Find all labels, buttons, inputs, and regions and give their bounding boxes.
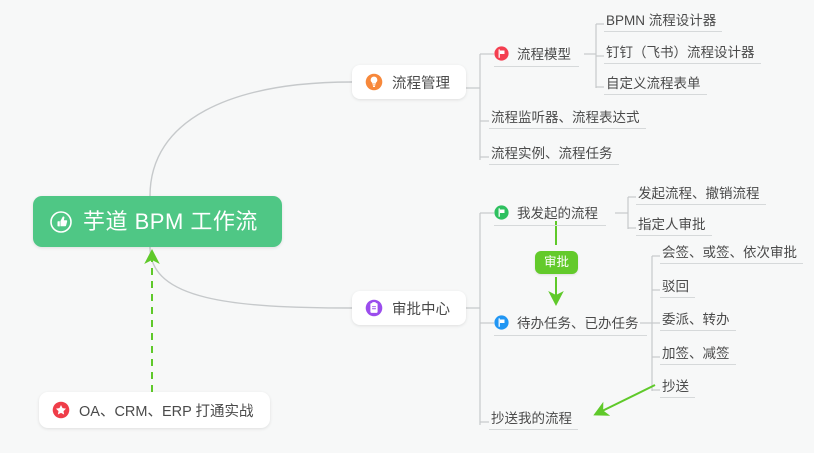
node-bpmn-designer[interactable]: BPMN 流程设计器: [604, 6, 722, 32]
node-my-initiated-process-label: 我发起的流程: [517, 202, 598, 222]
flag-icon: [494, 205, 509, 220]
root-label: 芋道 BPM 工作流: [83, 211, 258, 233]
node-approval-center-label: 审批中心: [392, 298, 450, 319]
node-add-remove-sign-label: 加签、减签: [662, 342, 730, 362]
node-delegate-transfer-label: 委派、转办: [662, 308, 730, 328]
node-custom-process-form-label: 自定义流程表单: [606, 72, 701, 92]
node-dingtalk-feishu-designer[interactable]: 钉钉（飞书）流程设计器: [604, 38, 761, 64]
star-icon: [52, 401, 70, 419]
node-approval-center[interactable]: 审批中心: [352, 291, 466, 325]
node-delegate-transfer[interactable]: 委派、转办: [660, 305, 736, 331]
node-cc-to-me-process[interactable]: 抄送我的流程: [489, 404, 578, 430]
node-bpmn-designer-label: BPMN 流程设计器: [606, 9, 716, 29]
node-cc-label: 抄送: [662, 375, 689, 395]
node-cc-to-me-process-label: 抄送我的流程: [491, 407, 572, 427]
root-node[interactable]: 芋道 BPM 工作流: [33, 196, 282, 247]
link-root-to-approval-center: [150, 247, 352, 308]
node-countersign-orsign-sequential-label: 会签、或签、依次审批: [662, 241, 797, 261]
node-dingtalk-feishu-designer-label: 钉钉（飞书）流程设计器: [606, 41, 755, 61]
node-custom-process-form[interactable]: 自定义流程表单: [604, 69, 707, 95]
mindmap-canvas: 芋道 BPM 工作流 流程管理 流程模型 BPMN 流程设计器 钉钉（飞书）流程: [0, 0, 814, 453]
clipboard-icon: [365, 299, 383, 317]
node-assignee-approval[interactable]: 指定人审批: [636, 210, 712, 236]
node-reject-label: 驳回: [662, 275, 689, 295]
node-start-cancel-process[interactable]: 发起流程、撤销流程: [636, 179, 766, 205]
node-process-management-label: 流程管理: [392, 72, 450, 93]
node-integration-note-label: OA、CRM、ERP 打通实战: [79, 400, 254, 421]
node-process-instance-task[interactable]: 流程实例、流程任务: [489, 139, 619, 165]
flag-icon: [494, 46, 509, 61]
node-cc[interactable]: 抄送: [660, 372, 695, 398]
node-integration-note[interactable]: OA、CRM、ERP 打通实战: [39, 392, 270, 428]
link-root-to-process-management: [150, 82, 352, 196]
node-process-listener-expression[interactable]: 流程监听器、流程表达式: [489, 103, 646, 129]
lightbulb-icon: [365, 73, 383, 91]
approval-badge: 审批: [535, 251, 578, 274]
node-todo-done-task[interactable]: 待办任务、已办任务: [494, 309, 647, 336]
node-countersign-orsign-sequential[interactable]: 会签、或签、依次审批: [660, 238, 803, 264]
thumbs-up-icon: [50, 211, 72, 233]
node-start-cancel-process-label: 发起流程、撤销流程: [638, 182, 760, 202]
flag-icon: [494, 315, 509, 330]
node-process-model[interactable]: 流程模型: [494, 40, 579, 67]
node-todo-done-task-label: 待办任务、已办任务: [517, 312, 639, 332]
node-assignee-approval-label: 指定人审批: [638, 213, 706, 233]
node-process-management[interactable]: 流程管理: [352, 65, 466, 99]
node-reject[interactable]: 驳回: [660, 272, 695, 298]
node-process-instance-task-label: 流程实例、流程任务: [491, 142, 613, 162]
node-my-initiated-process[interactable]: 我发起的流程: [494, 199, 606, 226]
node-process-model-label: 流程模型: [517, 43, 571, 63]
arrow-cc-to-ccme: [596, 385, 655, 414]
node-add-remove-sign[interactable]: 加签、减签: [660, 339, 736, 365]
node-process-listener-expression-label: 流程监听器、流程表达式: [491, 106, 640, 126]
